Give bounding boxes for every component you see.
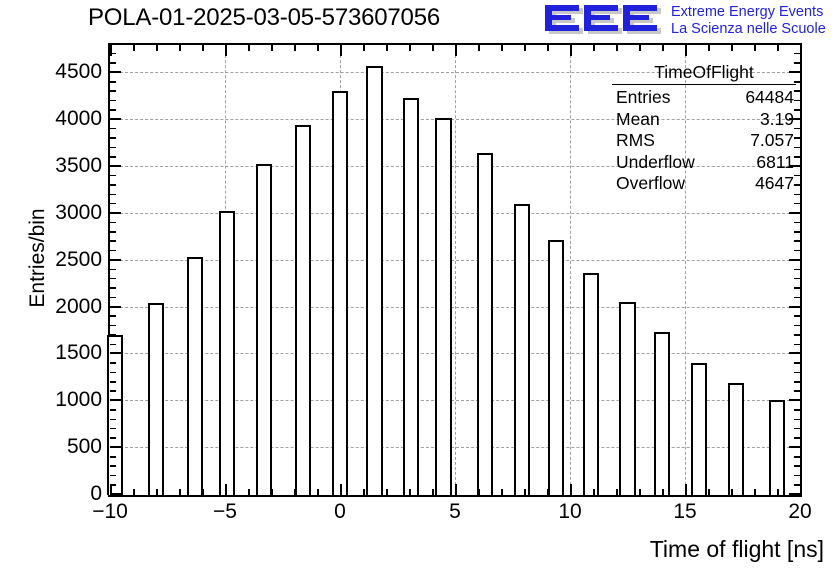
axis-tick [110, 325, 116, 327]
axis-tick [478, 489, 480, 495]
y-tick-label: 4500 [55, 60, 102, 84]
axis-tick [794, 240, 800, 242]
axis-tick [110, 306, 121, 308]
axis-tick [800, 484, 802, 495]
x-tick-label: 10 [530, 500, 610, 524]
axis-tick [294, 489, 296, 495]
axis-tick [202, 45, 204, 51]
stats-value: 7.057 [750, 130, 794, 152]
axis-tick [156, 45, 158, 51]
axis-tick [789, 493, 800, 495]
axis-tick [110, 334, 116, 336]
axis-tick [110, 147, 116, 149]
axis-tick [110, 456, 116, 458]
axis-tick [794, 381, 800, 383]
stats-title: TimeOfFlight [612, 62, 796, 84]
axis-tick [110, 44, 116, 46]
axis-tick [794, 475, 800, 477]
axis-tick [662, 45, 664, 51]
axis-tick [110, 71, 121, 73]
axis-tick [110, 437, 116, 439]
axis-tick [789, 352, 800, 354]
axis-tick [794, 269, 800, 271]
axis-tick [110, 372, 116, 374]
axis-tick [110, 465, 116, 467]
stats-row: RMS7.057 [612, 130, 796, 152]
axis-tick [794, 437, 800, 439]
axis-tick [156, 489, 158, 495]
axis-tick [409, 489, 411, 495]
y-tick-label: 1500 [55, 341, 102, 365]
y-axis-title: Entries/bin [26, 208, 50, 307]
axis-tick [501, 45, 503, 51]
axis-tick [110, 390, 116, 392]
axis-tick [363, 45, 365, 51]
axis-tick [179, 489, 181, 495]
axis-tick [794, 222, 800, 224]
axis-tick [794, 297, 800, 299]
eee-logo-line2: La Scienza nelle Scuole [671, 21, 826, 38]
axis-tick [110, 128, 116, 130]
axis-tick [616, 489, 618, 495]
axis-tick [794, 390, 800, 392]
axis-tick [524, 489, 526, 495]
stats-row: Overflow4647 [612, 173, 796, 195]
axis-tick [639, 45, 641, 51]
axis-tick [110, 493, 121, 495]
x-tick-label: −5 [185, 500, 265, 524]
axis-tick [110, 194, 116, 196]
axis-tick [794, 372, 800, 374]
stats-key: Entries [616, 87, 670, 109]
axis-tick [248, 45, 250, 51]
axis-tick [386, 45, 388, 51]
axis-tick [110, 156, 116, 158]
axis-tick [110, 109, 116, 111]
axis-tick [110, 362, 116, 364]
axis-tick [794, 456, 800, 458]
axis-tick [271, 45, 273, 51]
axis-tick [547, 45, 549, 51]
stats-key: Mean [616, 109, 660, 131]
axis-tick [794, 334, 800, 336]
axis-tick [794, 344, 800, 346]
axis-tick [794, 315, 800, 317]
axis-tick [731, 45, 733, 51]
axis-tick [110, 81, 116, 83]
axis-tick [685, 45, 687, 56]
axis-tick [639, 489, 641, 495]
axis-tick [794, 250, 800, 252]
axis-tick [110, 446, 121, 448]
axis-tick [570, 45, 572, 56]
axis-tick [794, 428, 800, 430]
stats-value: 64484 [745, 87, 794, 109]
stats-value: 4647 [755, 173, 794, 195]
axis-tick [478, 45, 480, 51]
axis-tick [317, 489, 319, 495]
axis-tick [800, 45, 802, 56]
axis-tick [110, 475, 116, 477]
eee-logo-line1: Extreme Energy Events [671, 4, 826, 21]
axis-tick [110, 62, 116, 64]
y-tick-label: 500 [67, 435, 102, 459]
axis-tick [110, 175, 116, 177]
y-tick-label: 2000 [55, 295, 102, 319]
histogram-canvas: POLA-01-2025-03-05-573607056 [0, 0, 836, 572]
axis-tick [248, 489, 250, 495]
axis-tick [570, 484, 572, 495]
y-tick-label: 3000 [55, 201, 102, 225]
axis-tick [110, 231, 116, 233]
axis-tick [110, 269, 116, 271]
axis-tick [794, 44, 800, 46]
y-tick-label: 4000 [55, 107, 102, 131]
axis-tick [133, 45, 135, 51]
axis-tick [110, 278, 116, 280]
axis-tick [455, 45, 457, 56]
x-tick-label: 5 [415, 500, 495, 524]
stats-divider [612, 84, 796, 85]
axis-tick [616, 45, 618, 51]
axis-tick [110, 212, 121, 214]
x-tick-label: 0 [300, 500, 380, 524]
stats-value: 6811 [756, 152, 794, 174]
axis-tick [110, 250, 116, 252]
axis-tick [789, 446, 800, 448]
axis-tick [386, 489, 388, 495]
axis-tick [777, 489, 779, 495]
axis-tick [110, 165, 121, 167]
axis-tick [110, 399, 121, 401]
y-tick-label: 2500 [55, 248, 102, 272]
axis-tick [432, 489, 434, 495]
axis-tick [794, 231, 800, 233]
axis-tick [789, 212, 800, 214]
axis-tick [179, 45, 181, 51]
axis-tick [110, 100, 116, 102]
axis-tick [593, 45, 595, 51]
axis-tick [662, 489, 664, 495]
axis-tick [110, 344, 116, 346]
axis-tick [317, 45, 319, 51]
axis-tick [110, 287, 116, 289]
x-axis-title: Time of flight [ns] [650, 536, 824, 563]
axis-tick [110, 184, 116, 186]
axis-tick [794, 203, 800, 205]
stats-key: Overflow [616, 173, 685, 195]
axis-tick [794, 362, 800, 364]
eee-logo: Extreme Energy Events La Scienza nelle S… [543, 3, 833, 39]
axis-tick [794, 465, 800, 467]
axis-tick [685, 484, 687, 495]
axis-tick [340, 484, 342, 495]
axis-tick [789, 306, 800, 308]
axis-tick [225, 45, 227, 56]
stats-value: 3.19 [760, 109, 794, 131]
axis-tick [593, 489, 595, 495]
axis-tick [110, 240, 116, 242]
axis-tick [363, 489, 365, 495]
axis-tick [294, 45, 296, 51]
axis-tick [110, 297, 116, 299]
axis-tick [271, 489, 273, 495]
y-tick-label: 3500 [55, 154, 102, 178]
x-tick-label: 15 [645, 500, 725, 524]
axis-tick [708, 489, 710, 495]
axis-tick [794, 287, 800, 289]
eee-logo-text: Extreme Energy Events La Scienza nelle S… [671, 4, 826, 37]
x-tick-label: −10 [70, 500, 150, 524]
axis-tick [110, 137, 116, 139]
axis-tick [110, 381, 116, 383]
axis-tick [110, 409, 116, 411]
eee-logo-mark-icon [543, 3, 663, 37]
axis-tick [789, 399, 800, 401]
stats-box: TimeOfFlight Entries64484Mean3.19RMS7.05… [612, 62, 796, 195]
axis-tick [432, 45, 434, 51]
y-tick-label: 1000 [55, 388, 102, 412]
axis-tick [794, 53, 800, 55]
axis-tick [202, 489, 204, 495]
axis-tick [455, 484, 457, 495]
axis-tick [794, 325, 800, 327]
axis-tick [110, 259, 121, 261]
axis-tick [777, 45, 779, 51]
axis-tick [524, 45, 526, 51]
stats-key: RMS [616, 130, 655, 152]
axis-tick [110, 118, 121, 120]
axis-tick [110, 315, 116, 317]
axis-tick [110, 53, 116, 55]
axis-tick [794, 419, 800, 421]
axis-tick [547, 489, 549, 495]
axis-tick [225, 484, 227, 495]
axis-tick [731, 489, 733, 495]
axis-tick [708, 45, 710, 51]
axis-tick [794, 409, 800, 411]
axis-tick [789, 259, 800, 261]
stats-key: Underflow [616, 152, 695, 174]
axis-tick [754, 45, 756, 51]
page-title: POLA-01-2025-03-05-573607056 [88, 4, 440, 32]
axis-tick [794, 484, 800, 486]
axis-tick [110, 90, 116, 92]
axis-tick [110, 484, 116, 486]
axis-tick [110, 203, 116, 205]
axis-tick [754, 489, 756, 495]
stats-row: Entries64484 [612, 87, 796, 109]
axis-tick [340, 45, 342, 56]
axis-tick [794, 278, 800, 280]
stats-row: Mean3.19 [612, 109, 796, 131]
axis-tick [501, 489, 503, 495]
axis-tick [110, 222, 116, 224]
axis-tick [133, 489, 135, 495]
x-tick-label: 20 [760, 500, 836, 524]
axis-tick [110, 428, 116, 430]
axis-tick [110, 419, 116, 421]
axis-tick [409, 45, 411, 51]
stats-row: Underflow6811 [612, 152, 796, 174]
axis-tick [110, 352, 121, 354]
